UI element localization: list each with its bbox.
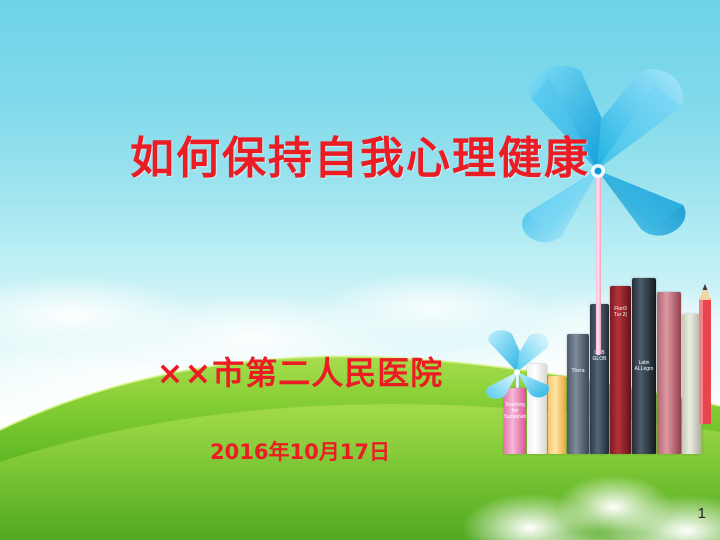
subtitle-organization: ××市第二人民医院 [0, 348, 720, 394]
page-title: 如何保持自我心理健康 [0, 122, 720, 186]
page-number: 1 [698, 505, 706, 522]
book-3-spine-text: Flori3 Tur 2( [610, 306, 631, 318]
slide-canvas: Teaching the Sustainable PLANCE Thera US… [0, 0, 720, 540]
presentation-date: 2016年10月17日 [0, 436, 720, 466]
book-8-spine-text: Teaching the Sustainable [504, 402, 526, 420]
